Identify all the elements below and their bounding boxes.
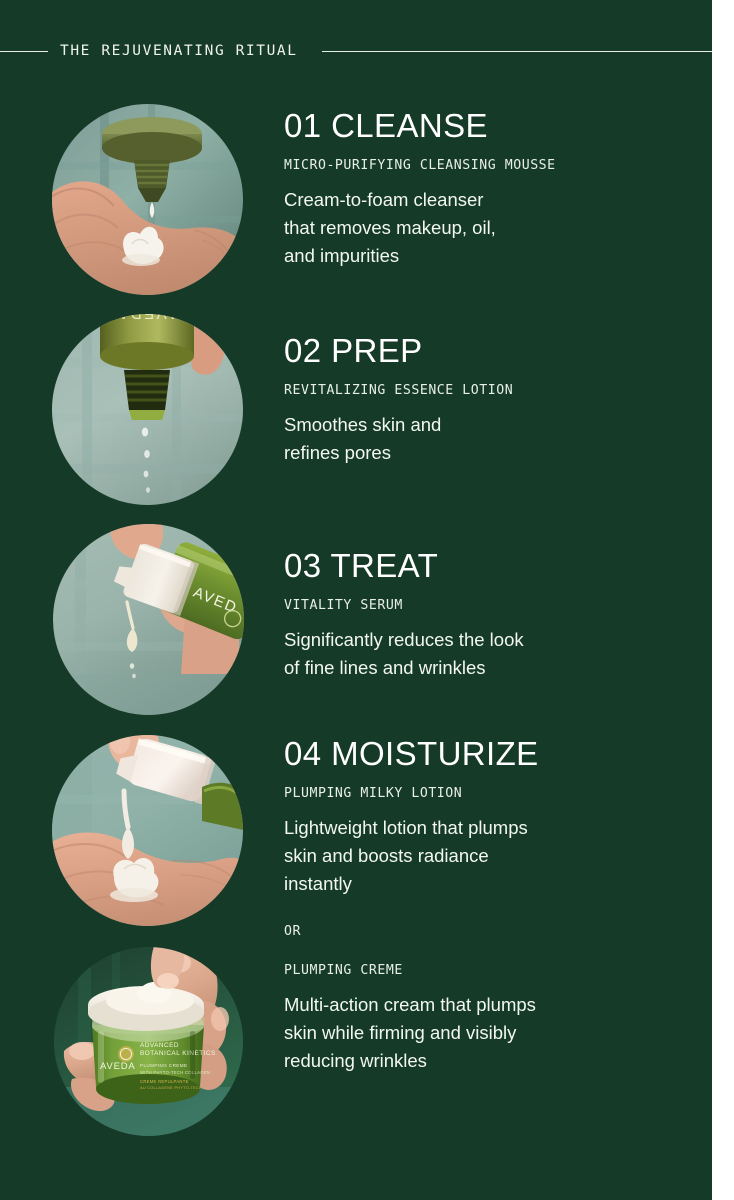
step-description-cleanse: Cream-to-foam cleanser that removes make… [284, 186, 684, 270]
step-image-prep: AVEDA [52, 314, 243, 505]
right-edge-strip [712, 0, 734, 1200]
step-product-moisturize: PLUMPING MILKY LOTION [284, 786, 684, 801]
eyebrow-rule-right [322, 51, 712, 52]
step-title-prep: 02 PREP [284, 333, 684, 369]
svg-text:BOTANICAL KINETICS: BOTANICAL KINETICS [140, 1050, 216, 1057]
alternate-description: Multi-action cream that plumps skin whil… [284, 991, 684, 1075]
step-image-moisturize [52, 735, 243, 926]
step-block-moisturize: 04 MOISTURIZE PLUMPING MILKY LOTION Ligh… [284, 736, 684, 1075]
header-eyebrow: THE REJUVENATING RITUAL [0, 40, 712, 62]
eyebrow-rule-left [0, 51, 48, 52]
svg-text:WITH PHYTO-TECH COLLAGEN: WITH PHYTO-TECH COLLAGEN [140, 1070, 210, 1075]
step-product-prep: REVITALIZING ESSENCE LOTION [284, 383, 684, 398]
step-title-treat: 03 TREAT [284, 548, 684, 584]
step-image-treat: AVED [53, 524, 244, 715]
step-product-cleanse: MICRO-PURIFYING CLEANSING MOUSSE [284, 158, 684, 173]
svg-text:AVEDA: AVEDA [100, 1061, 136, 1072]
svg-text:CREME REPULPANTE: CREME REPULPANTE [140, 1079, 189, 1084]
svg-text:PLUMPING CREME: PLUMPING CREME [140, 1063, 187, 1068]
svg-text:AU COLLAGENE PHYTO-TECH: AU COLLAGENE PHYTO-TECH [140, 1086, 202, 1090]
alternate-or-label: OR [284, 924, 684, 939]
step-image-plumping-creme: ADVANCED BOTANICAL KINETICS PLUMPING CRE… [54, 947, 243, 1136]
eyebrow-label: THE REJUVENATING RITUAL [48, 43, 310, 59]
step-image-cleanse [52, 104, 243, 295]
step-title-moisturize: 04 MOISTURIZE [284, 736, 684, 772]
step-description-prep: Smoothes skin and refines pores [284, 411, 684, 467]
svg-text:ADVANCED: ADVANCED [140, 1042, 179, 1049]
alternate-product-name: PLUMPING CREME [284, 963, 684, 978]
step-block-prep: 02 PREP REVITALIZING ESSENCE LOTION Smoo… [284, 333, 684, 467]
step-product-treat: VITALITY SERUM [284, 598, 684, 613]
step-title-cleanse: 01 CLEANSE [284, 108, 684, 144]
step-description-treat: Significantly reduces the look of fine l… [284, 626, 684, 682]
step-block-cleanse: 01 CLEANSE MICRO-PURIFYING CLEANSING MOU… [284, 108, 684, 270]
step-block-treat: 03 TREAT VITALITY SERUM Significantly re… [284, 548, 684, 682]
step-description-moisturize: Lightweight lotion that plumps skin and … [284, 814, 684, 898]
ritual-infographic: THE REJUVENATING RITUAL [0, 0, 734, 1200]
